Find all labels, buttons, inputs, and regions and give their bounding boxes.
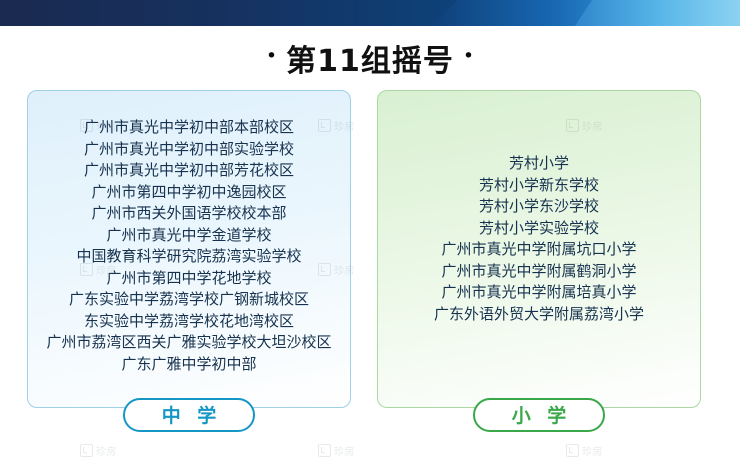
top-ribbon-decoration [0, 0, 740, 26]
tag-primary-school: 小 学 [473, 398, 605, 432]
list-item: 广东广雅中学初中部 [28, 354, 350, 376]
poster-page: •第11组摇号• 广州市真光中学初中部本部校区 广州市真光中学初中部实验学校 广… [0, 0, 740, 469]
list-item: 广州市真光中学附属鹤洞小学 [378, 261, 700, 283]
middle-school-list: 广州市真光中学初中部本部校区 广州市真光中学初中部实验学校 广州市真光中学初中部… [28, 117, 350, 375]
title-text: 第11组摇号 [286, 36, 454, 80]
list-item: 广东外语外贸大学附属荔湾小学 [378, 304, 700, 326]
list-item: 芳村小学 [378, 153, 700, 175]
title-bullet-left: • [266, 47, 277, 66]
list-item: 广州市真光中学附属坑口小学 [378, 239, 700, 261]
watermark: 珍房 [80, 443, 117, 458]
ribbon-band-light [575, 0, 740, 26]
panel-primary-school: 芳村小学 芳村小学新东学校 芳村小学东沙学校 芳村小学实验学校 广州市真光中学附… [377, 90, 701, 408]
list-item: 广州市第四中学初中逸园校区 [28, 182, 350, 204]
watermark-logo-icon [318, 444, 331, 457]
list-item: 广州市西关外国语学校校本部 [28, 203, 350, 225]
list-item: 芳村小学实验学校 [378, 218, 700, 240]
primary-school-list: 芳村小学 芳村小学新东学校 芳村小学东沙学校 芳村小学实验学校 广州市真光中学附… [378, 153, 700, 325]
watermark-text: 珍房 [582, 443, 603, 458]
tag-middle-school: 中 学 [123, 398, 255, 432]
list-item: 广州市真光中学初中部实验学校 [28, 139, 350, 161]
watermark: 珍房 [566, 443, 603, 458]
list-item: 芳村小学东沙学校 [378, 196, 700, 218]
watermark-text: 珍房 [334, 443, 355, 458]
list-item: 广东实验中学荔湾学校广钢新城校区 [28, 289, 350, 311]
list-item: 东实验中学荔湾学校花地湾校区 [28, 311, 350, 333]
list-item: 广州市真光中学金道学校 [28, 225, 350, 247]
title-bullet-right: • [463, 47, 474, 66]
list-item: 中国教育科学研究院荔湾实验学校 [28, 246, 350, 268]
watermark-text: 珍房 [96, 443, 117, 458]
list-item: 广州市真光中学初中部本部校区 [28, 117, 350, 139]
watermark-logo-icon [566, 444, 579, 457]
list-item: 芳村小学新东学校 [378, 175, 700, 197]
list-item: 广州市荔湾区西关广雅实验学校大坦沙校区 [28, 332, 350, 354]
panel-middle-school: 广州市真光中学初中部本部校区 广州市真光中学初中部实验学校 广州市真光中学初中部… [27, 90, 351, 408]
list-item: 广州市第四中学花地学校 [28, 268, 350, 290]
list-item: 广州市真光中学附属培真小学 [378, 282, 700, 304]
page-title: •第11组摇号• [0, 36, 740, 80]
watermark: 珍房 [318, 443, 355, 458]
list-item: 广州市真光中学初中部芳花校区 [28, 160, 350, 182]
watermark-logo-icon [80, 444, 93, 457]
